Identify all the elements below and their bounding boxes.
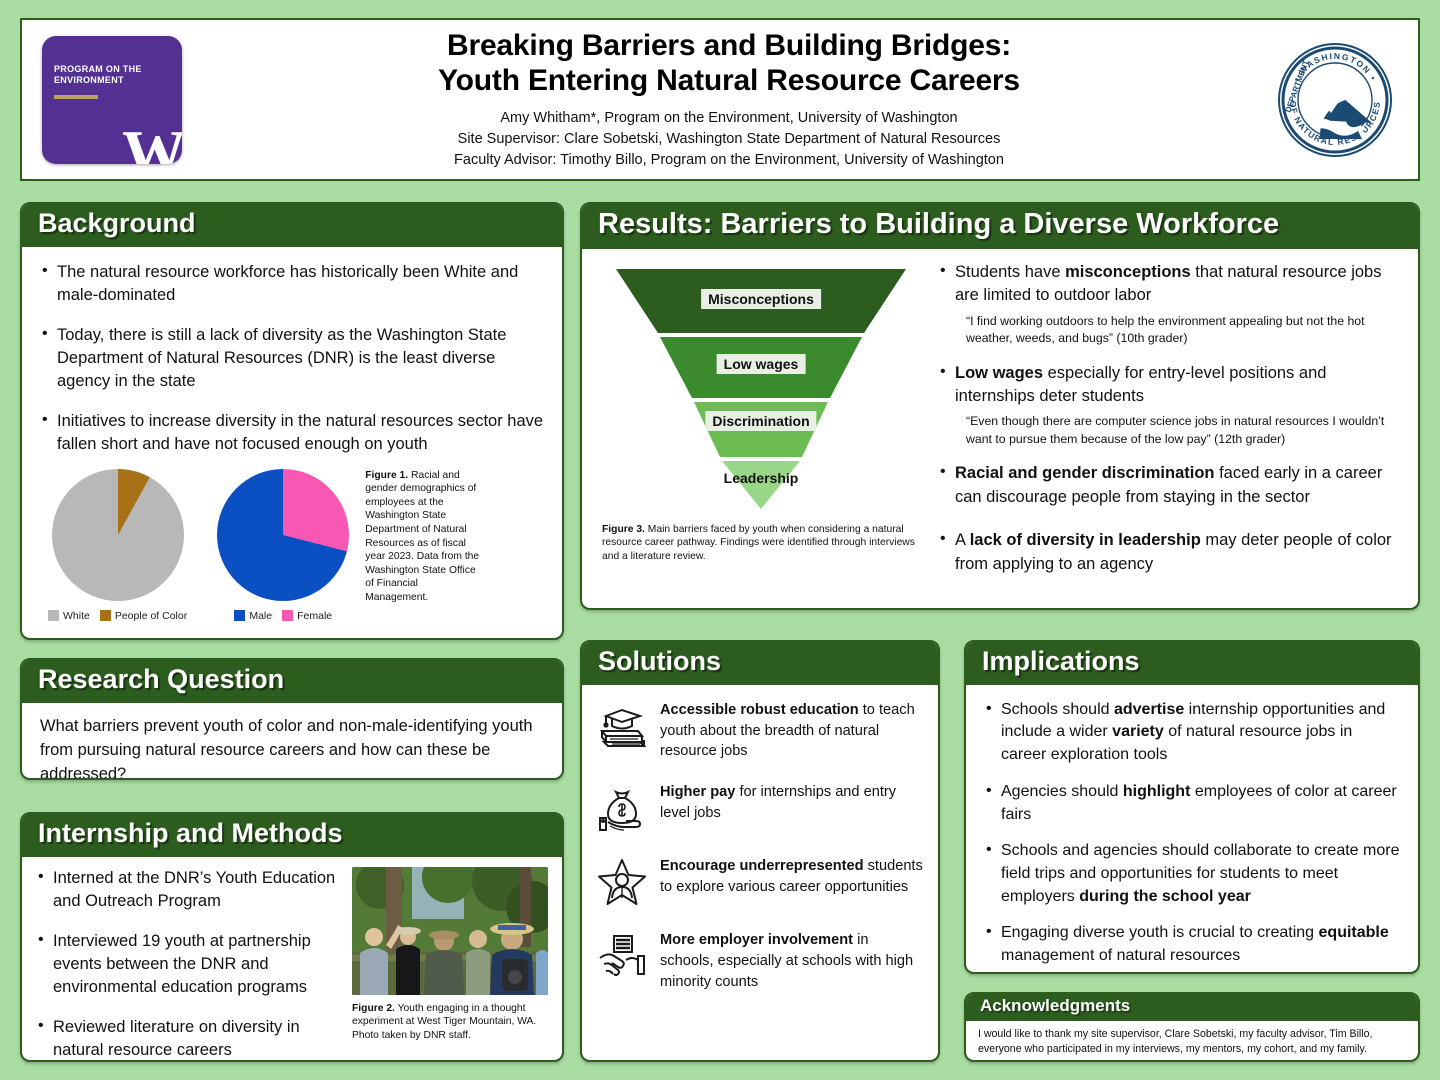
solution-item-employer: More employer involvement in schools, es… <box>584 919 936 1002</box>
list-item: Reviewed literature on diversity in natu… <box>36 1016 340 1062</box>
results-findings-column: Students have misconceptions that natura… <box>934 261 1404 576</box>
list-item: The natural resource workforce has histo… <box>40 261 544 308</box>
list-item: A lack of diversity in leadership may de… <box>938 529 1404 576</box>
results-body: Misconceptions Low wages Discrimination … <box>582 249 1418 586</box>
impl-part: Agencies should <box>1001 783 1123 800</box>
funnel-label-leadership: Leadership <box>717 468 806 488</box>
page-title: Breaking Barriers and Building Bridges: … <box>192 28 1266 99</box>
figure1-caption-text: Racial and gender demographics of employ… <box>365 470 479 603</box>
page-title-line2: Youth Entering Natural Resource Careers <box>192 63 1266 98</box>
list-item: Students have misconceptions that natura… <box>938 261 1404 308</box>
legend-item-poc: People of Color <box>100 610 187 622</box>
solution-text: Encourage underrepresented students to e… <box>660 854 924 898</box>
impl-part: Engaging diverse youth is crucial to cre… <box>1001 924 1319 941</box>
solutions-heading: Solutions <box>582 642 938 685</box>
finding-pre: A <box>955 531 970 549</box>
legend-label-female: Female <box>297 610 332 622</box>
finding-bold: misconceptions <box>1065 263 1191 281</box>
legend-swatch-poc <box>100 610 111 621</box>
list-item: Initiatives to increase diversity in the… <box>40 410 544 457</box>
figure3-funnel-column: Misconceptions Low wages Discrimination … <box>596 261 926 576</box>
impl-bold: advertise <box>1114 701 1184 718</box>
figure3-caption-text: Main barriers faced by youth when consid… <box>602 524 915 562</box>
results-bullet-list-3: Racial and gender discrimination faced e… <box>938 462 1404 576</box>
solution-item-education: Accessible robust education to teach you… <box>584 689 936 772</box>
impl-part: management of natural resources <box>1001 947 1240 964</box>
uw-logo-rule <box>54 95 98 99</box>
list-item: Schools should advertise internship oppo… <box>984 699 1400 767</box>
list-item: Low wages especially for entry-level pos… <box>938 362 1404 409</box>
legend-item-white: White <box>48 610 90 622</box>
solutions-panel: Solutions Accessible robust educati <box>580 640 940 1062</box>
finding-bold: lack of diversity in leadership <box>970 531 1201 549</box>
legend-label-male: Male <box>249 610 272 622</box>
solution-text: More employer involvement in schools, es… <box>660 928 924 993</box>
gender-pie-graphic <box>217 469 349 601</box>
legend-item-male: Male <box>234 610 272 622</box>
legend-item-female: Female <box>282 610 332 622</box>
legend-swatch-white <box>48 610 59 621</box>
solutions-body: Accessible robust education to teach you… <box>582 685 938 1006</box>
race-pie-legend: White People of Color <box>48 610 187 622</box>
figure2-block: Figure 2. Youth engaging in a thought ex… <box>352 867 548 1062</box>
implications-heading: Implications <box>966 642 1418 685</box>
background-panel: Background The natural resource workforc… <box>20 202 564 640</box>
figure2-photo <box>352 867 548 995</box>
research-question-body: What barriers prevent youth of color and… <box>22 703 562 780</box>
solution-bold: Accessible robust education <box>660 702 859 718</box>
race-pie-graphic <box>52 469 184 601</box>
impl-bold: highlight <box>1123 783 1191 800</box>
figure3-caption: Figure 3. Main barriers faced by youth w… <box>596 523 926 564</box>
results-bullet-list: Students have misconceptions that natura… <box>938 261 1404 308</box>
funnel-label-low-wages: Low wages <box>717 354 806 374</box>
wa-dnr-seal-icon: • WASHINGTON • OF NATURAL RESOURCES DEPA… <box>1276 41 1394 159</box>
funnel-label-discrimination: Discrimination <box>705 411 816 431</box>
impl-part: Schools should <box>1001 701 1114 718</box>
figure2-caption-label: Figure 2. <box>352 1003 395 1014</box>
research-question-panel: Research Question What barriers prevent … <box>20 658 564 780</box>
acknowledgments-text: I would like to thank my site supervisor… <box>978 1027 1406 1058</box>
uw-logo-line1: PROGRAM ON THE <box>54 64 142 75</box>
background-body: The natural resource workforce has histo… <box>22 247 562 634</box>
author-name: Amy Whitham*, Program on the Environment… <box>192 108 1266 129</box>
legend-swatch-female <box>282 610 293 621</box>
gender-pie-chart: Male Female <box>217 469 349 622</box>
figure2-caption: Figure 2. Youth engaging in a thought ex… <box>352 1002 548 1043</box>
legend-swatch-male <box>234 610 245 621</box>
poster-canvas: PROGRAM ON THE ENVIRONMENT W Breaking Ba… <box>0 0 1440 1080</box>
list-item: Agencies should highlight employees of c… <box>984 781 1400 826</box>
uw-w-mark-icon: W <box>122 116 182 164</box>
solution-item-encourage: Encourage underrepresented students to e… <box>584 845 936 919</box>
graduation-cap-books-icon <box>594 698 650 754</box>
solution-item-pay: Higher pay for internships and entry lev… <box>584 771 936 845</box>
uw-program-on-environment-logo: PROGRAM ON THE ENVIRONMENT W <box>42 36 182 164</box>
site-supervisor: Site Supervisor: Clare Sobetski, Washing… <box>192 129 1266 150</box>
impl-bold: equitable <box>1319 924 1389 941</box>
legend-label-poc: People of Color <box>115 610 187 622</box>
list-item: Racial and gender discrimination faced e… <box>938 462 1404 509</box>
implications-panel: Implications Schools should advertise in… <box>964 640 1420 974</box>
solution-bold: More employer involvement <box>660 932 853 948</box>
solution-bold: Higher pay <box>660 784 735 800</box>
list-item: Schools and agencies should collaborate … <box>984 840 1400 908</box>
figure1-caption: Figure 1. Racial and gender demographics… <box>365 469 483 605</box>
race-pie-chart: White People of Color <box>48 469 187 622</box>
acknowledgments-panel: Acknowledgments I would like to thank my… <box>964 992 1420 1062</box>
star-person-icon <box>594 854 650 910</box>
uw-logo-line2: ENVIRONMENT <box>54 75 142 86</box>
impl-bold: during the school year <box>1079 888 1251 905</box>
results-heading: Results: Barriers to Building a Diverse … <box>582 204 1418 249</box>
handshake-icon <box>594 928 650 984</box>
page-title-line1: Breaking Barriers and Building Bridges: <box>192 28 1266 63</box>
acknowledgments-body: I would like to thank my site supervisor… <box>966 1021 1418 1062</box>
results-panel: Results: Barriers to Building a Diverse … <box>580 202 1420 610</box>
list-item: Engaging diverse youth is crucial to cre… <box>984 922 1400 967</box>
methods-heading: Internship and Methods <box>22 814 562 857</box>
acknowledgments-heading: Acknowledgments <box>966 994 1418 1021</box>
solution-text: Accessible robust education to teach you… <box>660 698 924 763</box>
list-item: Interviewed 19 youth at partnership even… <box>36 930 340 1000</box>
author-block: Amy Whitham*, Program on the Environment… <box>192 108 1266 171</box>
title-block: Breaking Barriers and Building Bridges: … <box>182 28 1276 171</box>
impl-bold: variety <box>1112 723 1164 740</box>
implications-bullet-list: Schools should advertise internship oppo… <box>984 699 1400 968</box>
implications-body: Schools should advertise internship oppo… <box>966 685 1418 974</box>
finding-bold: Racial and gender discrimination <box>955 464 1214 482</box>
finding-bold: Low wages <box>955 364 1043 382</box>
barriers-funnel-diagram: Misconceptions Low wages Discrimination … <box>596 261 926 513</box>
student-quote: “Even though there are computer science … <box>966 413 1404 448</box>
figure1-charts: White People of Color Male Female Figure… <box>40 469 544 622</box>
list-item: Today, there is still a lack of diversit… <box>40 324 544 394</box>
legend-label-white: White <box>63 610 90 622</box>
gender-pie-legend: Male Female <box>217 610 349 622</box>
research-question-text: What barriers prevent youth of color and… <box>40 715 544 780</box>
methods-bullet-list: Interned at the DNR’s Youth Education an… <box>36 867 340 1062</box>
money-bag-hand-icon <box>594 780 650 836</box>
background-bullet-list: The natural resource workforce has histo… <box>40 261 544 457</box>
poster-header: PROGRAM ON THE ENVIRONMENT W Breaking Ba… <box>20 18 1420 181</box>
methods-body: Interned at the DNR’s Youth Education an… <box>22 857 562 1062</box>
background-heading: Background <box>22 204 562 247</box>
faculty-advisor: Faculty Advisor: Timothy Billo, Program … <box>192 150 1266 171</box>
results-bullet-list-2: Low wages especially for entry-level pos… <box>938 362 1404 409</box>
uw-logo-text: PROGRAM ON THE ENVIRONMENT <box>54 64 142 87</box>
solution-text: Higher pay for internships and entry lev… <box>660 780 924 824</box>
solution-bold: Encourage underrepresented <box>660 858 864 874</box>
figure1-caption-label: Figure 1. <box>365 470 408 481</box>
figure3-caption-label: Figure 3. <box>602 524 645 535</box>
methods-panel: Internship and Methods Interned at the D… <box>20 812 564 1062</box>
list-item: Interned at the DNR’s Youth Education an… <box>36 867 340 914</box>
funnel-label-misconceptions: Misconceptions <box>701 289 821 309</box>
student-quote: “I find working outdoors to help the env… <box>966 313 1404 348</box>
research-question-heading: Research Question <box>22 660 562 703</box>
finding-pre: Students have <box>955 263 1065 281</box>
